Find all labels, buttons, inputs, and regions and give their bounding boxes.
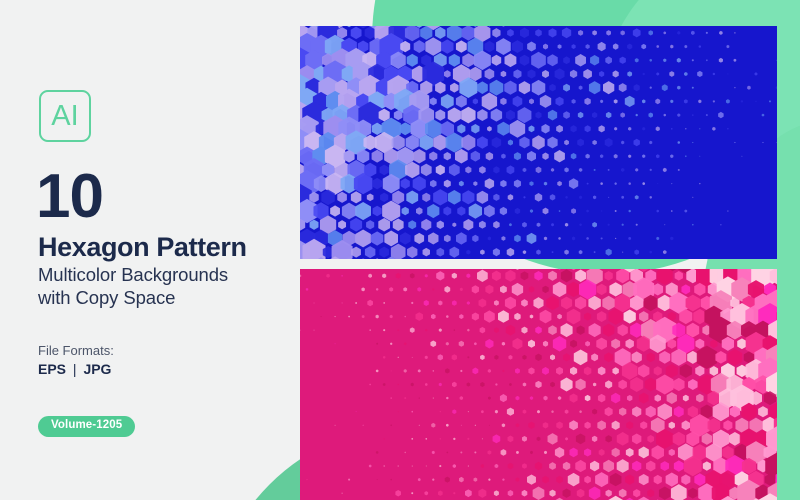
adobe-illustrator-file-icon: AI [39, 90, 91, 142]
ai-badge-label: AI [51, 102, 78, 131]
file-formats-label: File Formats: [38, 344, 114, 357]
volume-badge: Volume-1205 [38, 416, 135, 437]
file-format-eps: EPS [38, 361, 66, 377]
file-format-jpg: JPG [83, 361, 111, 377]
item-count: 10 [36, 166, 103, 228]
pink-hexagon-preview[interactable] [300, 269, 777, 500]
blue-hexagon-preview[interactable] [300, 26, 777, 259]
page-title: Hexagon Pattern [38, 234, 247, 261]
page-subtitle-line-2: with Copy Space [38, 286, 288, 309]
file-format-separator: | [70, 361, 80, 377]
page-subtitle: Multicolor Backgrounds with Copy Space [38, 263, 288, 309]
pink-hexagon-pattern [300, 269, 777, 500]
blue-hexagon-pattern [300, 26, 777, 259]
page-subtitle-line-1: Multicolor Backgrounds [38, 263, 288, 286]
info-column: AI 10 Hexagon Pattern Multicolor Backgro… [0, 0, 300, 500]
poster-canvas: AI 10 Hexagon Pattern Multicolor Backgro… [0, 0, 800, 500]
file-formats-value: EPS | JPG [38, 362, 111, 376]
